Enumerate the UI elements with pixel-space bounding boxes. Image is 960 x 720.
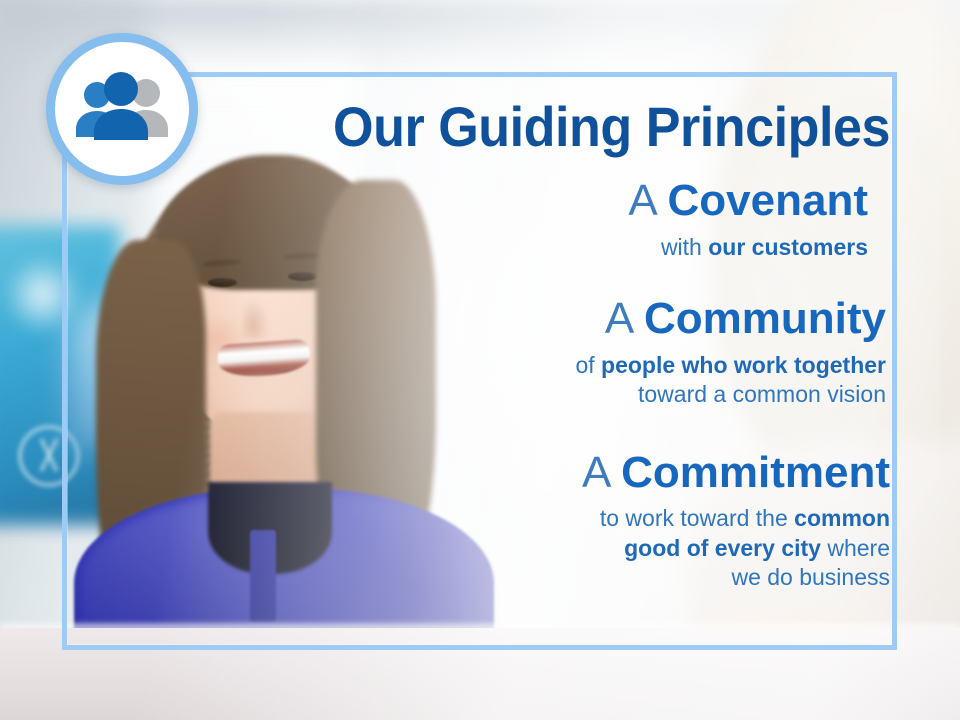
principle-commitment: A Commitment to work toward the commongo… xyxy=(200,450,890,593)
principle-covenant-subtext: with our customers xyxy=(200,233,868,262)
principle-covenant-article: A xyxy=(628,176,655,225)
principle-community-article: A xyxy=(605,294,632,343)
principles-copy: Our Guiding Principles A Covenant with o… xyxy=(200,80,890,593)
principle-covenant-keyword: Covenant xyxy=(668,176,868,225)
principle-commitment-subtext-line: to work toward the common xyxy=(200,504,890,533)
principle-community-subtext-line: of people who work together xyxy=(200,351,886,380)
principle-covenant: A Covenant with our customers xyxy=(200,178,890,262)
principle-commitment-subtext-line: we do business xyxy=(200,563,890,592)
principle-community-heading: A Community xyxy=(200,296,886,343)
page-title: Our Guiding Principles xyxy=(248,98,890,156)
principle-commitment-heading: A Commitment xyxy=(200,450,890,497)
principle-commitment-article: A xyxy=(582,448,609,497)
principle-community-subtext-line: toward a common vision xyxy=(200,380,886,409)
principle-covenant-subtext-line: with our customers xyxy=(200,233,868,262)
principle-commitment-keyword: Commitment xyxy=(621,448,890,497)
principle-commitment-subtext: to work toward the commongood of every c… xyxy=(200,504,890,592)
principle-community-subtext: of people who work togethertoward a comm… xyxy=(200,351,886,410)
people-group-icon xyxy=(55,42,189,176)
principle-community-keyword: Community xyxy=(644,294,886,343)
poster-canvas: FLOW FLOW xyxy=(0,0,960,720)
principle-covenant-heading: A Covenant xyxy=(200,178,868,225)
people-badge xyxy=(46,33,198,185)
principle-community: A Community of people who work togethert… xyxy=(200,296,890,410)
principle-commitment-subtext-line: good of every city where xyxy=(200,534,890,563)
